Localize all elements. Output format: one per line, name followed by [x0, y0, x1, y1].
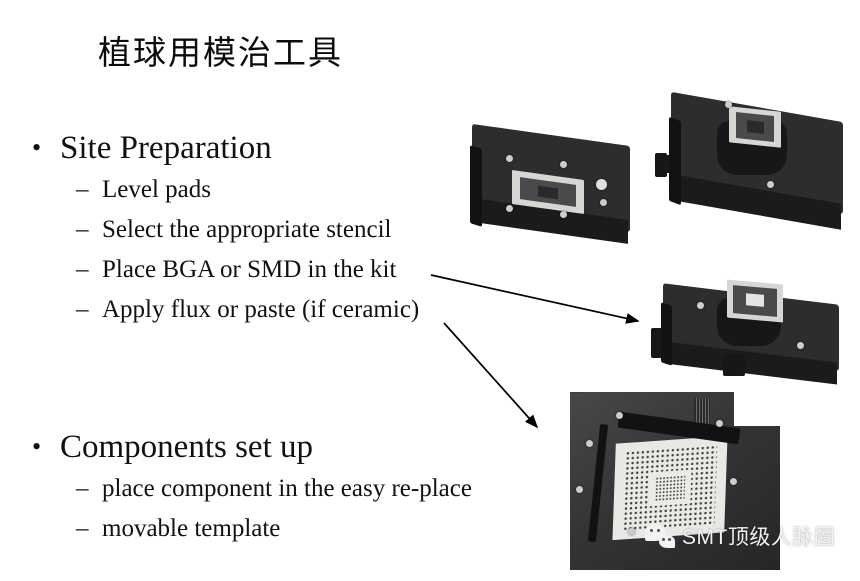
- bullet-components-set-up: • Components set up: [20, 428, 472, 466]
- dash-icon: –: [76, 512, 89, 546]
- sub-bullet-level-pads-label: Level pads: [102, 176, 211, 203]
- bullet-dot-icon: •: [32, 428, 41, 466]
- bullet-dot-icon: •: [32, 129, 41, 167]
- ball-grid-center: [648, 469, 691, 506]
- sub-bullet-place-component-label: place component in the easy re-place: [102, 475, 472, 502]
- dash-icon: –: [76, 253, 89, 287]
- photo-collage: [430, 85, 860, 581]
- bullet-group-site-preparation: • Site Preparation – Level pads – Select…: [20, 129, 419, 327]
- bullet-group-components-set-up: • Components set up – place component in…: [20, 428, 472, 546]
- sub-bullet-place-bga: – Place BGA or SMD in the kit: [20, 253, 419, 287]
- watermark: SMT顶级人脉圈: [645, 521, 835, 551]
- presentation-slide: 植球用模治工具: [0, 0, 860, 581]
- sub-bullet-place-component: – place component in the easy re-place: [20, 472, 472, 506]
- bullet-components-set-up-label: Components set up: [60, 429, 313, 465]
- sub-bullet-select-stencil-label: Select the appropriate stencil: [102, 216, 391, 243]
- bullet-site-preparation-label: Site Preparation: [60, 130, 272, 166]
- photo-corner-notch: [734, 392, 780, 426]
- photo-bga-fixture-top-right: [655, 93, 860, 253]
- slide-title: 植球用模治工具: [98, 33, 343, 73]
- wechat-icon: [645, 524, 675, 548]
- sub-bullet-select-stencil: – Select the appropriate stencil: [20, 213, 419, 247]
- dash-icon: –: [76, 293, 89, 327]
- dash-icon: –: [76, 472, 89, 506]
- dash-icon: –: [76, 173, 89, 207]
- watermark-label: SMT顶级人脉圈: [682, 521, 835, 551]
- sub-bullet-apply-flux-label: Apply flux or paste (if ceramic): [102, 296, 419, 323]
- dash-icon: –: [76, 213, 89, 247]
- photo-bga-fixture-middle-right: [645, 280, 860, 395]
- sub-bullet-apply-flux: – Apply flux or paste (if ceramic): [20, 293, 419, 327]
- sub-bullet-place-bga-label: Place BGA or SMD in the kit: [102, 256, 396, 283]
- photo-bga-fixture-left: [468, 127, 638, 267]
- sub-bullet-movable-template-label: movable template: [102, 515, 280, 542]
- sub-bullet-level-pads: – Level pads: [20, 173, 419, 207]
- bullet-site-preparation: • Site Preparation: [20, 129, 419, 167]
- sub-bullet-movable-template: – movable template: [20, 512, 472, 546]
